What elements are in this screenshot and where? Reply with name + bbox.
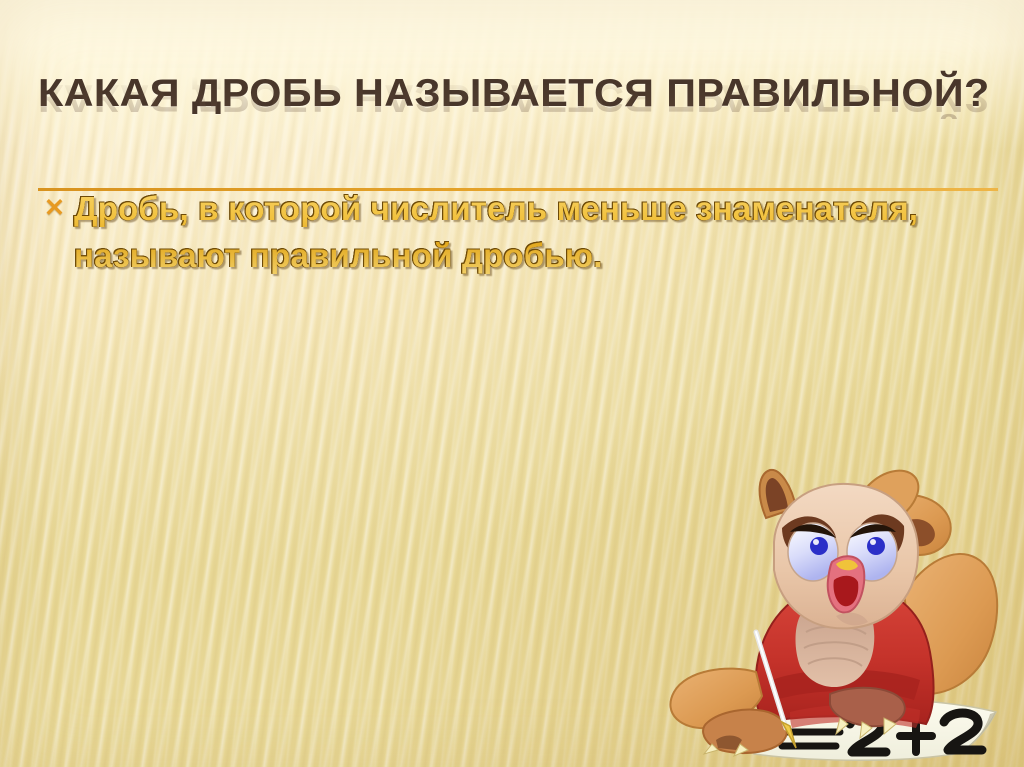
slide-title-block: КАКАЯ ДРОБЬ НАЗЫВАЕТСЯ ПРАВИЛЬНОЙ? КАКАЯ…	[38, 72, 998, 164]
slide-body-block: ✕ Дробь, в которой числитель меньше знам…	[44, 185, 994, 279]
page-title: КАКАЯ ДРОБЬ НАЗЫВАЕТСЯ ПРАВИЛЬНОЙ?	[38, 72, 1024, 116]
bullet-text: Дробь, в которой числитель меньше знамен…	[74, 185, 994, 279]
cross-bullet-icon: ✕	[44, 185, 74, 231]
slide-canvas: КАКАЯ ДРОБЬ НАЗЫВАЕТСЯ ПРАВИЛЬНОЙ? КАКАЯ…	[0, 0, 1024, 767]
thinking-owl-illustration	[604, 466, 1016, 767]
list-item: ✕ Дробь, в которой числитель меньше знам…	[44, 185, 994, 279]
owl-head	[760, 470, 919, 629]
